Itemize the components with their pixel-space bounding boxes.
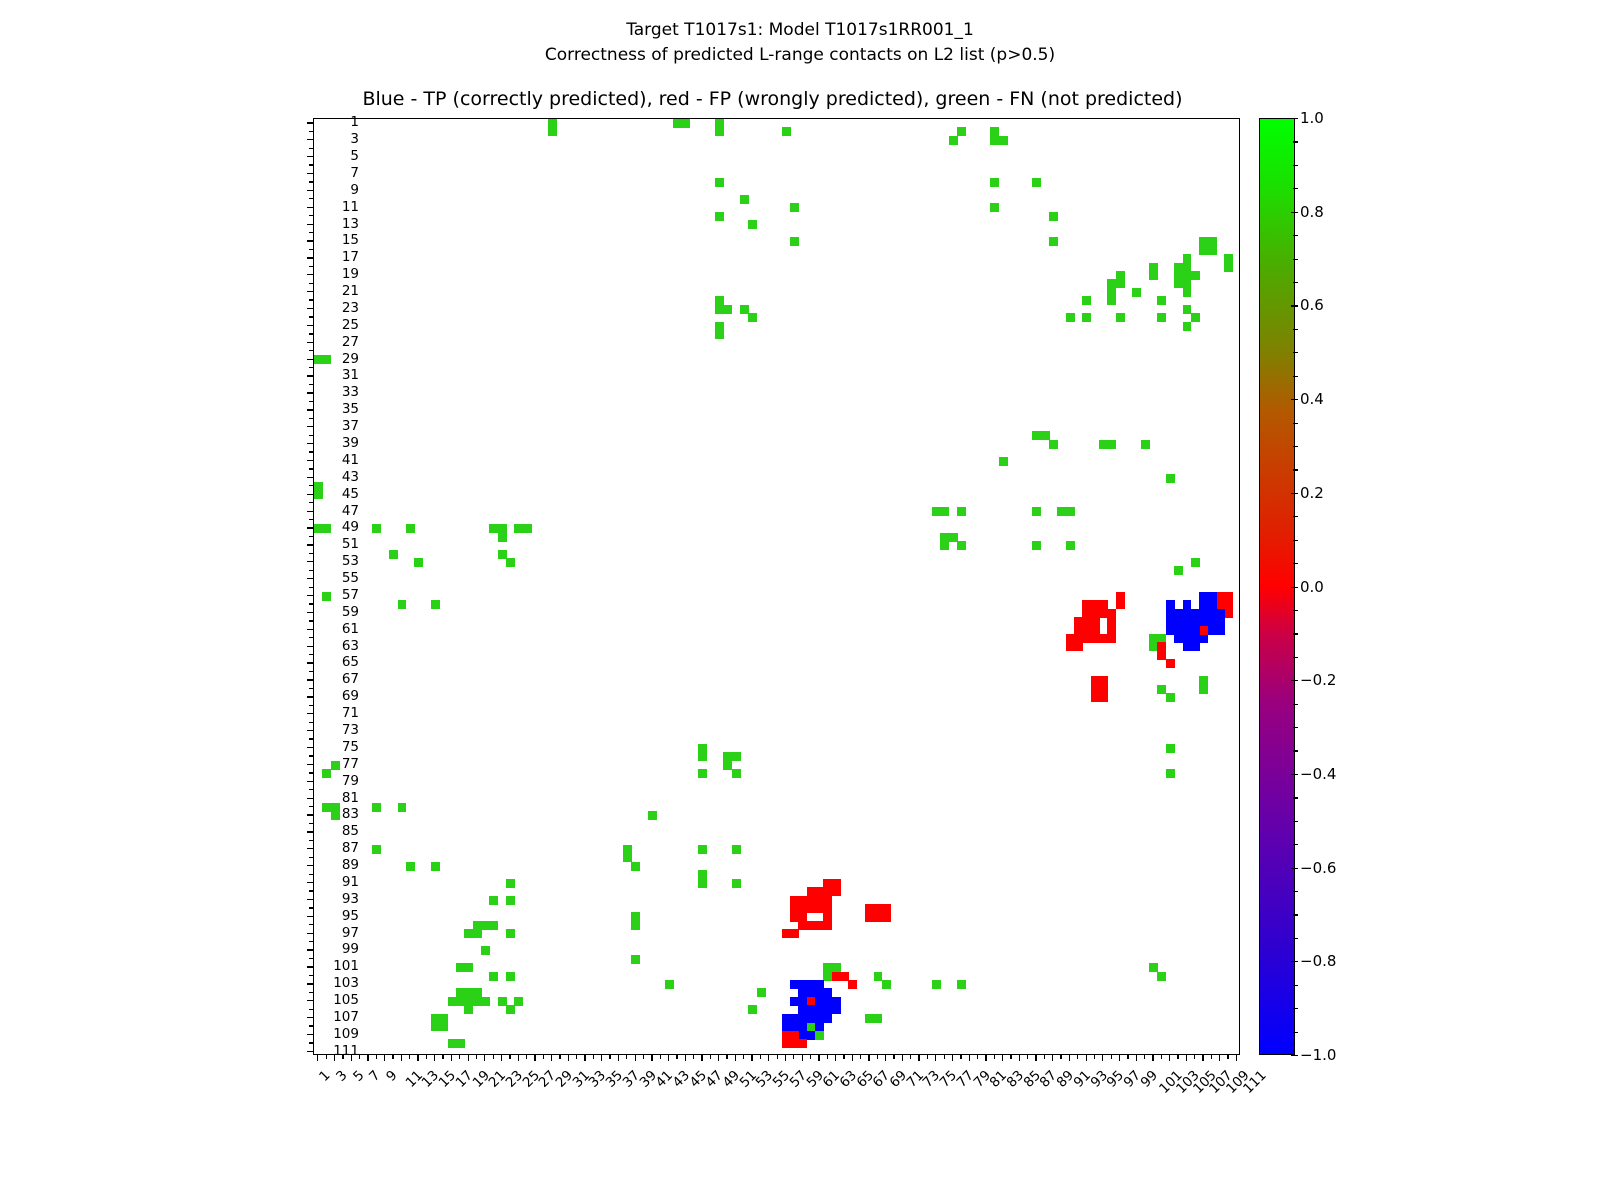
- y-tick-mark: [309, 874, 313, 875]
- contact-cell-fn: [506, 1005, 515, 1014]
- contact-cell-fn: [940, 541, 949, 550]
- x-tick-mark: [768, 1055, 769, 1061]
- y-tick-mark: [307, 274, 313, 275]
- colorbar-tick-label: −0.6: [1300, 859, 1336, 877]
- contact-cell-fn: [957, 127, 966, 136]
- y-tick-mark: [307, 460, 313, 461]
- contact-cell-fn: [748, 1005, 757, 1014]
- colorbar-minor-tick: [1293, 141, 1298, 142]
- x-tick-mark: [1236, 1055, 1237, 1061]
- contact-cell-fn: [698, 845, 707, 854]
- x-tick-mark: [701, 1055, 702, 1061]
- y-tick-mark: [307, 899, 313, 900]
- y-tick-mark: [309, 570, 313, 571]
- x-tick-mark: [392, 1055, 393, 1059]
- y-tick-label: 57: [342, 587, 359, 603]
- contact-cell-fn: [331, 811, 340, 820]
- colorbar-minor-tick: [1293, 844, 1298, 845]
- y-tick-mark: [307, 983, 313, 984]
- contact-cell-tp: [832, 1005, 841, 1014]
- y-tick-mark: [307, 291, 313, 292]
- y-tick-label: 29: [342, 351, 359, 367]
- colorbar-tick-label: −0.4: [1300, 765, 1336, 783]
- y-tick-mark: [307, 933, 313, 934]
- contact-cell-fn: [957, 541, 966, 550]
- x-tick-mark: [342, 1055, 343, 1059]
- contact-cell-fn: [882, 980, 891, 989]
- y-tick-label: 19: [342, 266, 359, 282]
- colorbar-minor-tick: [1293, 376, 1298, 377]
- contact-cell-tp: [1216, 625, 1225, 634]
- x-tick-mark: [526, 1055, 527, 1059]
- y-tick-mark: [307, 511, 313, 512]
- suptitle-line-2: Correctness of predicted L-range contact…: [0, 43, 1600, 68]
- x-tick-mark: [1177, 1055, 1178, 1059]
- y-tick-mark: [307, 595, 313, 596]
- contact-cell-fn: [1132, 288, 1141, 297]
- contact-cell-fn: [1107, 296, 1116, 305]
- x-tick-mark: [877, 1055, 878, 1059]
- colorbar-tick-label: 0.0: [1300, 578, 1324, 596]
- y-tick-mark: [307, 629, 313, 630]
- x-tick-mark: [334, 1055, 335, 1061]
- contact-cell-fn: [673, 119, 682, 128]
- y-tick-mark: [309, 316, 313, 317]
- x-tick-mark: [793, 1055, 794, 1059]
- x-tick-mark: [476, 1055, 477, 1059]
- contact-cell-tp: [1199, 634, 1208, 643]
- contact-cell-fn: [372, 803, 381, 812]
- y-tick-mark: [309, 620, 313, 621]
- contact-cell-fn: [489, 921, 498, 930]
- contact-cell-fp: [1082, 609, 1091, 618]
- y-tick-mark: [309, 367, 313, 368]
- contact-cell-fn: [732, 752, 741, 761]
- contact-cell-fp: [823, 896, 832, 905]
- colorbar-minor-tick: [1293, 750, 1298, 751]
- contact-cell-tp: [790, 1022, 799, 1031]
- x-tick-mark: [893, 1055, 894, 1059]
- contact-cell-fn: [1032, 178, 1041, 187]
- contact-cell-fn: [1157, 296, 1166, 305]
- x-tick-mark: [442, 1055, 443, 1059]
- colorbar-tick-label: 0.8: [1300, 203, 1324, 221]
- colorbar-minor-tick: [1293, 540, 1298, 541]
- contact-cell-fn: [723, 305, 732, 314]
- x-tick-mark: [367, 1055, 368, 1061]
- y-tick-label: 91: [342, 874, 359, 890]
- x-tick-mark: [643, 1055, 644, 1059]
- y-tick-mark: [309, 992, 313, 993]
- contact-cell-fn: [1032, 541, 1041, 550]
- y-tick-mark: [307, 578, 313, 579]
- y-tick-mark: [307, 798, 313, 799]
- x-tick-mark: [1086, 1055, 1087, 1061]
- colorbar-tick-mark: [1291, 961, 1298, 962]
- y-tick-mark: [309, 637, 313, 638]
- contact-cell-fn: [489, 896, 498, 905]
- contact-cell-fn: [473, 929, 482, 938]
- x-tick-mark: [1027, 1055, 1028, 1059]
- contact-cell-fn: [790, 237, 799, 246]
- contact-cell-fn: [715, 296, 724, 305]
- contact-cell-fn: [1066, 313, 1075, 322]
- contact-cell-fn: [506, 558, 515, 567]
- x-tick-mark: [960, 1055, 961, 1059]
- contact-cell-fp: [848, 980, 857, 989]
- y-tick-mark: [309, 958, 313, 959]
- colorbar-tick-mark: [1291, 305, 1298, 306]
- y-tick-label: 51: [342, 536, 359, 552]
- contact-cell-fn: [1157, 972, 1166, 981]
- y-tick-label: 93: [342, 891, 359, 907]
- contact-cell-fn: [631, 862, 640, 871]
- x-tick-mark: [451, 1055, 452, 1061]
- y-tick-label: 107: [333, 1009, 359, 1025]
- contact-cell-fn: [698, 879, 707, 888]
- y-tick-mark: [307, 1000, 313, 1001]
- contact-cell-fn: [1208, 246, 1217, 255]
- y-tick-mark: [309, 975, 313, 976]
- y-tick-label: 73: [342, 722, 359, 738]
- contact-cell-fp: [790, 929, 799, 938]
- x-tick-mark: [685, 1055, 686, 1061]
- x-tick-mark: [1094, 1055, 1095, 1059]
- contact-cell-fn: [1049, 440, 1058, 449]
- y-tick-mark: [307, 224, 313, 225]
- contact-cell-fn: [431, 600, 440, 609]
- y-tick-label: 101: [333, 958, 359, 974]
- contact-cell-fn: [1066, 541, 1075, 550]
- x-tick-mark: [885, 1055, 886, 1061]
- contact-cell-fn: [1066, 507, 1075, 516]
- x-tick-mark: [635, 1055, 636, 1061]
- y-tick-mark: [309, 131, 313, 132]
- contact-cell-fn: [949, 136, 958, 145]
- x-tick-mark: [977, 1055, 978, 1059]
- contact-cell-fn: [790, 203, 799, 212]
- contact-map-plot: [313, 118, 1240, 1055]
- x-tick-mark: [927, 1055, 928, 1059]
- y-tick-mark: [309, 603, 313, 604]
- contact-cell-fn: [314, 490, 323, 499]
- colorbar-minor-tick: [1293, 657, 1298, 658]
- x-tick-mark: [376, 1055, 377, 1059]
- contact-cell-fp: [882, 912, 891, 921]
- contact-cell-fn: [498, 997, 507, 1006]
- contact-cell-fn: [322, 592, 331, 601]
- x-tick-mark: [568, 1055, 569, 1061]
- y-tick-label: 99: [342, 941, 359, 957]
- y-tick-label: 39: [342, 435, 359, 451]
- contact-cell-fn: [414, 558, 423, 567]
- contact-cell-fn: [1191, 313, 1200, 322]
- contact-cell-fn: [1157, 313, 1166, 322]
- contact-cell-fn: [1183, 305, 1192, 314]
- contact-cell-fn: [1199, 676, 1208, 685]
- y-tick-mark: [309, 1025, 313, 1026]
- contact-cell-fn: [1166, 769, 1175, 778]
- x-tick-mark: [660, 1055, 661, 1059]
- y-tick-mark: [309, 249, 313, 250]
- y-tick-mark: [307, 1034, 313, 1035]
- contact-cell-fn: [1116, 279, 1125, 288]
- contact-cell-fn: [372, 845, 381, 854]
- contact-cell-fn: [548, 127, 557, 136]
- x-tick-mark: [1202, 1055, 1203, 1061]
- colorbar-tick-mark: [1291, 774, 1298, 775]
- contact-cell-fp: [1099, 634, 1108, 643]
- y-tick-label: 105: [333, 992, 359, 1008]
- y-tick-mark: [307, 426, 313, 427]
- y-tick-label: 89: [342, 857, 359, 873]
- contact-cell-fn: [431, 862, 440, 871]
- x-tick-mark: [584, 1055, 585, 1061]
- y-tick-mark: [309, 671, 313, 672]
- y-tick-label: 13: [342, 216, 359, 232]
- colorbar-minor-tick: [1293, 563, 1298, 564]
- y-tick-mark: [307, 375, 313, 376]
- contact-cell-fn: [1199, 685, 1208, 694]
- x-tick-mark: [501, 1055, 502, 1061]
- colorbar-tick-label: 0.4: [1300, 390, 1324, 408]
- contact-cell-fn: [957, 980, 966, 989]
- x-tick-mark: [601, 1055, 602, 1061]
- x-tick-mark: [918, 1055, 919, 1061]
- contact-cell-fn: [506, 896, 515, 905]
- y-tick-mark: [309, 164, 313, 165]
- contact-cell-fn: [815, 1031, 824, 1040]
- y-tick-label: 109: [333, 1026, 359, 1042]
- y-tick-label: 97: [342, 925, 359, 941]
- y-tick-label: 7: [350, 165, 359, 181]
- colorbar-tick-mark: [1291, 1055, 1298, 1056]
- x-tick-label: 9: [383, 1067, 400, 1084]
- x-tick-label: 3: [333, 1067, 350, 1084]
- x-tick-mark: [760, 1055, 761, 1059]
- contact-cell-fn: [1141, 440, 1150, 449]
- contact-cell-tp: [782, 1022, 791, 1031]
- contact-cell-fn: [665, 980, 674, 989]
- contact-cell-fn: [506, 929, 515, 938]
- contact-cell-fn: [1191, 271, 1200, 280]
- x-tick-mark: [1219, 1055, 1220, 1061]
- y-tick-mark: [307, 257, 313, 258]
- contact-cell-fn: [489, 972, 498, 981]
- y-tick-mark: [307, 308, 313, 309]
- x-tick-mark: [985, 1055, 986, 1061]
- x-tick-mark: [518, 1055, 519, 1061]
- x-tick-mark: [843, 1055, 844, 1059]
- contact-map-cells: [314, 119, 1239, 1054]
- contact-cell-fn: [940, 507, 949, 516]
- x-tick-mark: [1102, 1055, 1103, 1061]
- y-tick-mark: [307, 561, 313, 562]
- x-tick-mark: [326, 1055, 327, 1059]
- x-tick-mark: [1052, 1055, 1053, 1061]
- contact-cell-fn: [648, 811, 657, 820]
- x-tick-mark: [944, 1055, 945, 1059]
- x-tick-mark: [1069, 1055, 1070, 1061]
- y-tick-mark: [309, 907, 313, 908]
- contact-cell-fn: [514, 997, 523, 1006]
- x-tick-mark: [559, 1055, 560, 1059]
- contact-cell-fn: [1149, 271, 1158, 280]
- contact-cell-fn: [389, 550, 398, 559]
- y-tick-label: 77: [342, 756, 359, 772]
- x-tick-mark: [994, 1055, 995, 1059]
- colorbar-minor-tick: [1293, 188, 1298, 189]
- y-tick-mark: [309, 215, 313, 216]
- x-tick-mark: [802, 1055, 803, 1061]
- y-tick-mark: [307, 612, 313, 613]
- y-tick-mark: [309, 418, 313, 419]
- y-tick-mark: [307, 916, 313, 917]
- x-tick-mark: [902, 1055, 903, 1061]
- contact-cell-fp: [1199, 625, 1208, 634]
- x-tick-mark: [935, 1055, 936, 1061]
- contact-cell-fn: [322, 524, 331, 533]
- x-tick-mark: [468, 1055, 469, 1061]
- x-tick-mark: [969, 1055, 970, 1061]
- y-tick-mark: [307, 949, 313, 950]
- y-tick-label: 111: [333, 1043, 359, 1059]
- x-tick-mark: [509, 1055, 510, 1059]
- y-tick-mark: [309, 485, 313, 486]
- y-tick-label: 61: [342, 621, 359, 637]
- contact-cell-fp: [807, 904, 816, 913]
- contact-cell-tp: [1191, 642, 1200, 651]
- x-tick-mark: [1186, 1055, 1187, 1061]
- y-tick-mark: [309, 350, 313, 351]
- x-tick-mark: [910, 1055, 911, 1059]
- x-tick-mark: [401, 1055, 402, 1061]
- y-tick-mark: [309, 148, 313, 149]
- x-tick-label: 7: [366, 1067, 383, 1084]
- y-tick-mark: [309, 468, 313, 469]
- contact-cell-fn: [456, 1039, 465, 1048]
- x-tick-mark: [785, 1055, 786, 1061]
- contact-cell-fn: [464, 1005, 473, 1014]
- x-tick-label: 1: [316, 1067, 333, 1084]
- x-tick-mark: [1136, 1055, 1137, 1061]
- y-tick-label: 49: [342, 519, 359, 535]
- x-tick-mark: [1152, 1055, 1153, 1061]
- x-tick-mark: [1144, 1055, 1145, 1059]
- contact-cell-fp: [1099, 693, 1108, 702]
- contact-cell-fn: [1166, 744, 1175, 753]
- y-tick-mark: [309, 941, 313, 942]
- contact-cell-fn: [748, 220, 757, 229]
- y-tick-mark: [309, 283, 313, 284]
- y-tick-mark: [309, 1042, 313, 1043]
- x-tick-mark: [1019, 1055, 1020, 1061]
- colorbar-tick-mark: [1291, 212, 1298, 213]
- contact-cell-fn: [990, 203, 999, 212]
- contact-cell-tp: [1166, 625, 1175, 634]
- y-tick-mark: [307, 342, 313, 343]
- x-tick-mark: [609, 1055, 610, 1059]
- contact-cell-fp: [798, 1039, 807, 1048]
- y-tick-mark: [309, 401, 313, 402]
- y-tick-mark: [309, 587, 313, 588]
- contact-cell-fn: [631, 921, 640, 930]
- x-tick-mark: [743, 1055, 744, 1059]
- x-tick-mark: [1111, 1055, 1112, 1059]
- colorbar-minor-tick: [1293, 891, 1298, 892]
- y-tick-mark: [309, 738, 313, 739]
- contact-cell-fn: [999, 457, 1008, 466]
- x-tick-mark: [417, 1055, 418, 1061]
- y-tick-label: 65: [342, 654, 359, 670]
- y-tick-label: 23: [342, 300, 359, 316]
- contact-cell-fn: [631, 955, 640, 964]
- x-tick-mark: [710, 1055, 711, 1059]
- colorbar-tick-mark: [1291, 118, 1298, 119]
- colorbar-minor-tick: [1293, 985, 1298, 986]
- colorbar-minor-tick: [1293, 469, 1298, 470]
- x-tick-mark: [317, 1055, 318, 1061]
- y-tick-mark: [307, 764, 313, 765]
- x-tick-mark: [1077, 1055, 1078, 1059]
- contact-cell-fn: [1183, 288, 1192, 297]
- contact-cell-fn: [1107, 440, 1116, 449]
- y-tick-label: 33: [342, 384, 359, 400]
- y-tick-label: 103: [333, 975, 359, 991]
- y-tick-mark: [309, 924, 313, 925]
- x-tick-mark: [1002, 1055, 1003, 1061]
- x-tick-mark: [618, 1055, 619, 1061]
- contact-cell-fn: [498, 533, 507, 542]
- colorbar-minor-tick: [1293, 329, 1298, 330]
- contact-cell-fn: [990, 178, 999, 187]
- contact-cell-fp: [1107, 634, 1116, 643]
- x-tick-mark: [751, 1055, 752, 1061]
- y-tick-mark: [307, 325, 313, 326]
- y-tick-mark: [307, 443, 313, 444]
- x-tick-mark: [777, 1055, 778, 1059]
- y-tick-label: 95: [342, 908, 359, 924]
- contact-cell-fn: [1082, 313, 1091, 322]
- x-tick-mark: [1169, 1055, 1170, 1061]
- contact-cell-fn: [464, 963, 473, 972]
- colorbar-minor-tick: [1293, 727, 1298, 728]
- colorbar-tick-label: 0.6: [1300, 296, 1324, 314]
- contact-cell-tp: [1183, 617, 1192, 626]
- contact-cell-fn: [481, 946, 490, 955]
- contact-cell-tp: [815, 1022, 824, 1031]
- y-tick-mark: [307, 646, 313, 647]
- y-tick-mark: [307, 122, 313, 123]
- contact-cell-fn: [506, 972, 515, 981]
- x-tick-mark: [409, 1055, 410, 1059]
- colorbar-tick-mark: [1291, 680, 1298, 681]
- y-tick-mark: [309, 823, 313, 824]
- y-tick-label: 9: [350, 182, 359, 198]
- y-tick-mark: [307, 527, 313, 528]
- y-tick-label: 21: [342, 283, 359, 299]
- contact-cell-fn: [1166, 693, 1175, 702]
- y-tick-label: 17: [342, 249, 359, 265]
- colorbar-tick-label: −1.0: [1300, 1046, 1336, 1064]
- contact-cell-fn: [1183, 279, 1192, 288]
- y-tick-mark: [309, 536, 313, 537]
- colorbar-minor-tick: [1293, 821, 1298, 822]
- x-tick-mark: [534, 1055, 535, 1061]
- y-tick-label: 31: [342, 367, 359, 383]
- colorbar-minor-tick: [1293, 704, 1298, 705]
- y-tick-mark: [307, 1017, 313, 1018]
